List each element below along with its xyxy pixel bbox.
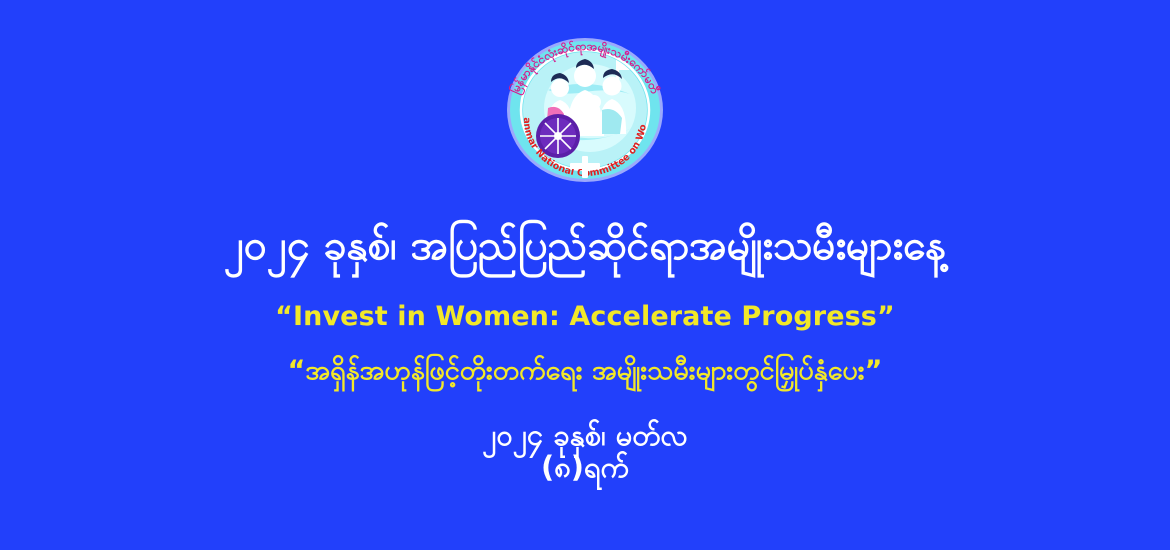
- organization-logo: မြန်မာနိုင်ငံလုံးဆိုင်ရာအမျိုးသမီးကော်မတ…: [490, 28, 680, 183]
- event-date-line-2: (၈)ရက်: [0, 450, 1170, 485]
- poster-canvas: မြန်မာနိုင်ငံလုံးဆိုင်ရာအမျိုးသမီးကော်မတ…: [0, 0, 1170, 550]
- event-title-myanmar: ၂၀၂၄ ခုနှစ်၊ အပြည်ပြည်ဆိုင်ရာအမျိုးသမီးမ…: [0, 222, 1170, 269]
- theme-subtitle-english: “Invest in Women: Accelerate Progress”: [0, 301, 1170, 333]
- event-date-line-1: ၂၀၂၄ ခုနှစ်၊ မတ်လ: [0, 418, 1170, 453]
- emblem-icon: မြန်မာနိုင်ငံလုံးဆိုင်ရာအမျိုးသမီးကော်မတ…: [490, 28, 680, 183]
- theme-subtitle-myanmar: “အရှိန်အဟုန်ဖြင့်တိုးတက်ရေး အမျိုးသမီးမျ…: [0, 355, 1170, 387]
